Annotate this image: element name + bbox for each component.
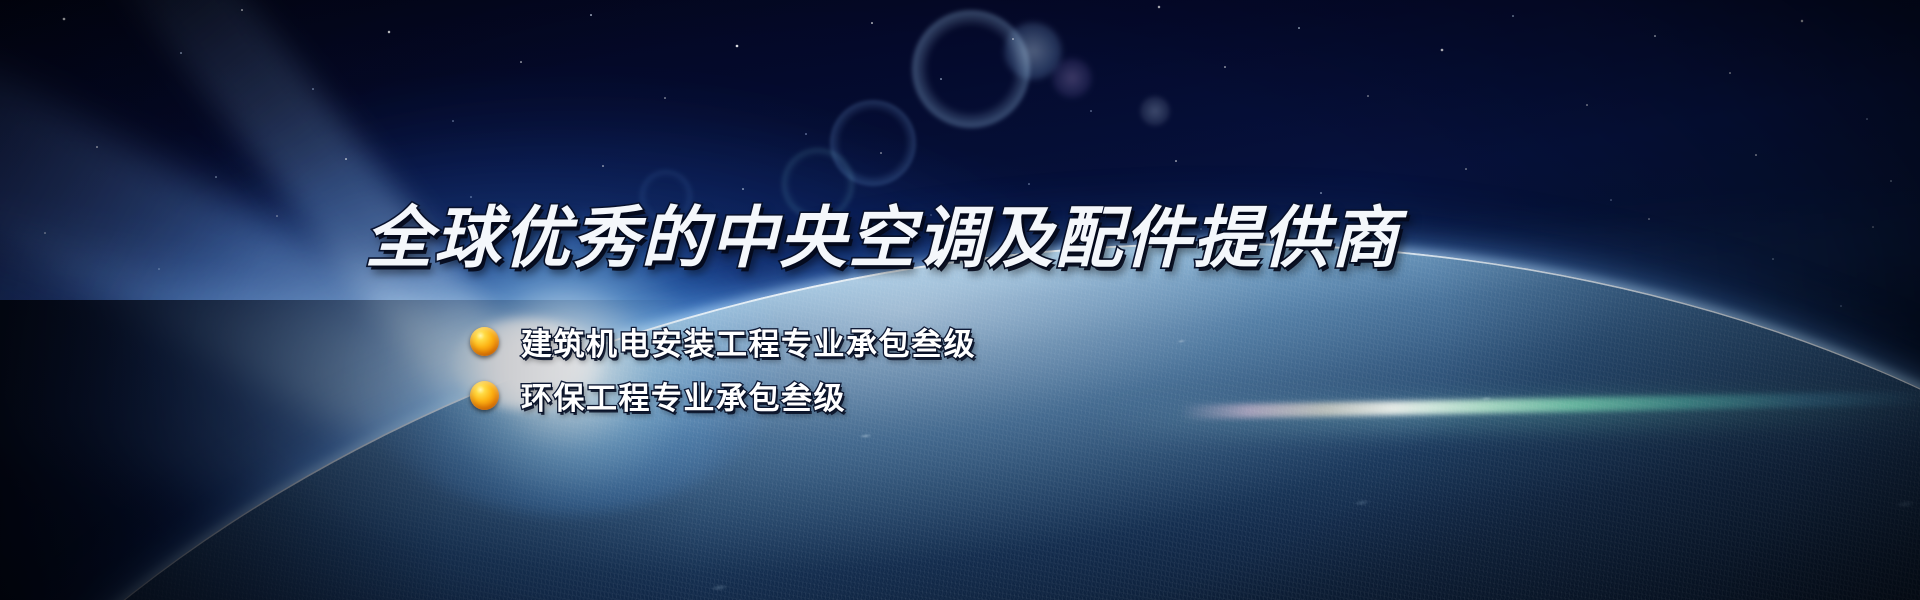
- list-item: 建筑机电安装工程专业承包叁级: [470, 314, 976, 368]
- list-item-label: 环保工程专业承包叁级: [521, 373, 846, 418]
- list-item-label: 建筑机电安装工程专业承包叁级: [521, 319, 976, 364]
- banner-headline: 全球优秀的中央空调及配件提供商: [365, 203, 1400, 273]
- orange-dot-icon: [470, 327, 499, 356]
- banner-content: 全球优秀的中央空调及配件提供商 建筑机电安装工程专业承包叁级 环保工程专业承包叁…: [0, 0, 1920, 600]
- orange-dot-icon: [470, 381, 499, 410]
- list-item: 环保工程专业承包叁级: [470, 368, 976, 422]
- hero-banner: 全球优秀的中央空调及配件提供商 建筑机电安装工程专业承包叁级 环保工程专业承包叁…: [0, 0, 1920, 600]
- qualification-list: 建筑机电安装工程专业承包叁级 环保工程专业承包叁级: [470, 314, 976, 422]
